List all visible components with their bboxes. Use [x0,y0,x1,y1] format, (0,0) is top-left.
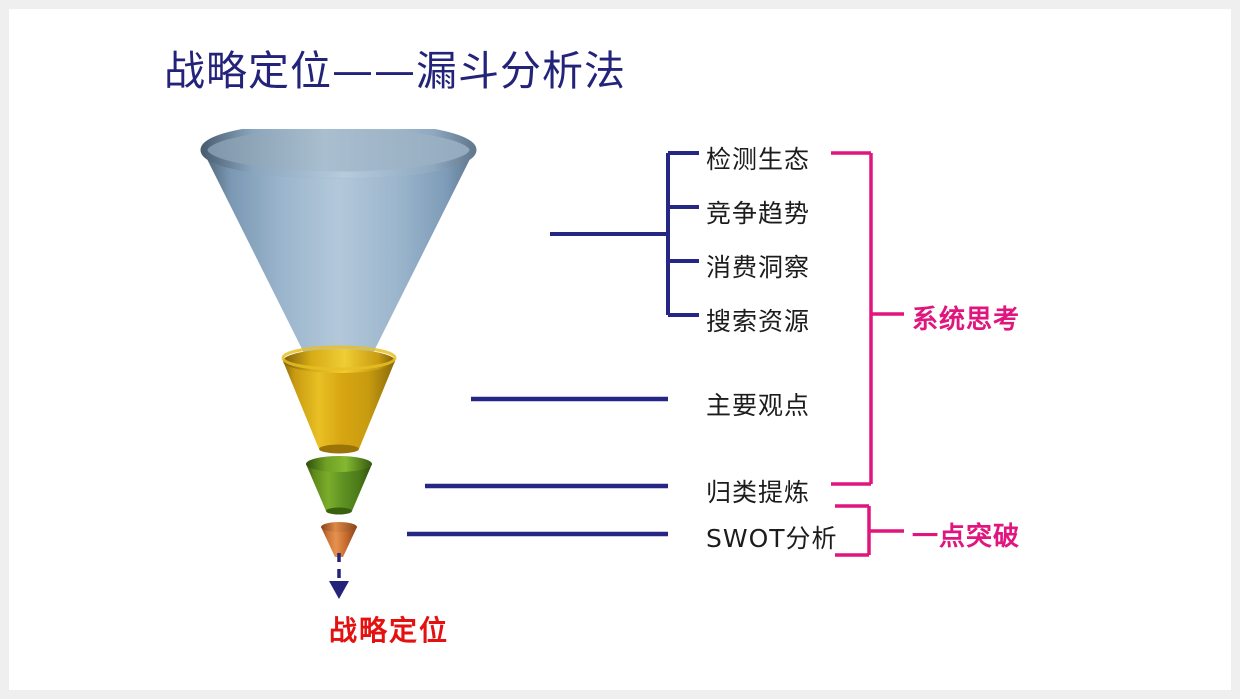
group-label-breakthrough: 一点突破 [912,516,1020,553]
stage-label-consumer-insight: 消费洞察 [706,248,810,284]
pink-bracket-breakthrough [835,506,904,555]
funnel-segment-research [204,129,473,364]
stage-label-main-viewpoint: 主要观点 [706,386,810,422]
stage-label-classify-distill: 归类提炼 [706,473,810,509]
stage-label-detect-ecology: 检测生态 [706,140,810,176]
funnel-output-arrow [329,553,349,599]
funnel-segment-swot [321,522,357,557]
pink-bracket-systems-thinking [831,153,904,484]
funnel-segment-viewpoint [283,347,395,454]
page-title: 战略定位——漏斗分析法 [164,37,626,97]
group-label-systems-thinking: 系统思考 [912,299,1020,336]
funnel-graphic [179,129,519,599]
outcome-label: 战略定位 [329,609,449,649]
navy-bracket-research [550,153,699,315]
stage-label-search-resources: 搜索资源 [706,302,810,338]
diagram-canvas: 战略定位——漏斗分析法 [9,9,1231,690]
stage-label-competition-trend: 竞争趋势 [706,194,810,230]
funnel-segment-distill [306,456,372,515]
slide-canvas: 战略定位——漏斗分析法 [0,0,1240,699]
stage-label-swot-analysis: SWOT分析 [706,519,838,555]
